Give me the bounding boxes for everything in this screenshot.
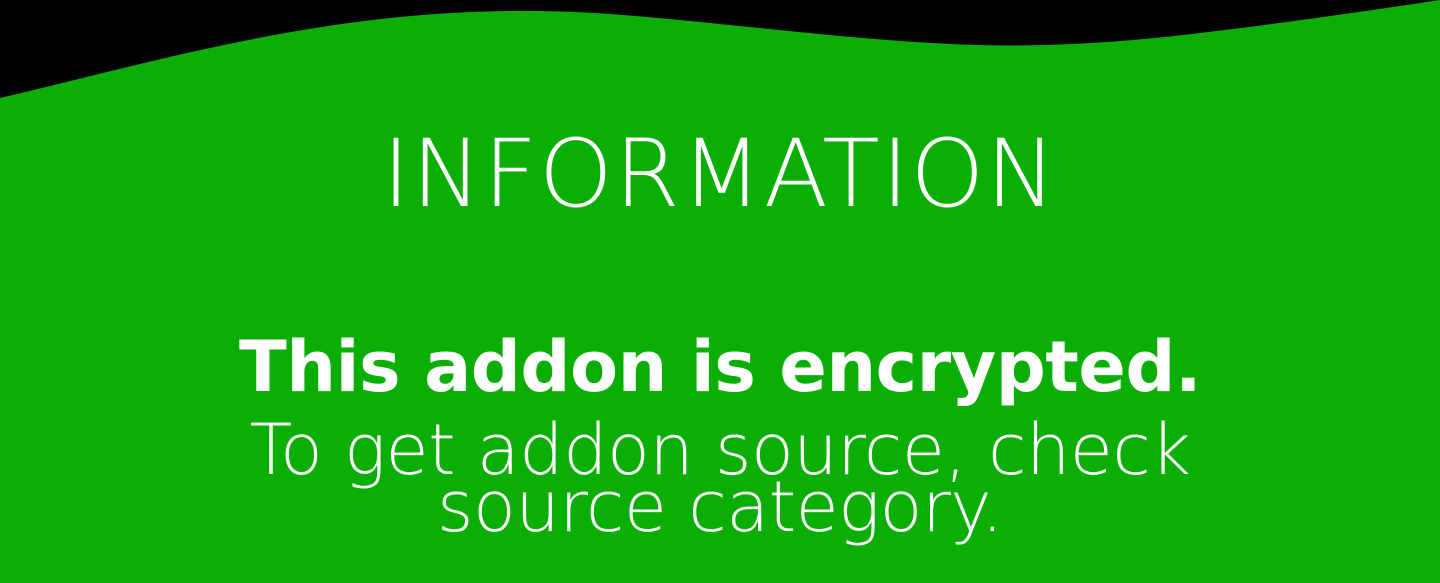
information-banner: INFORMATION This addon is encrypted. To … — [0, 0, 1440, 583]
green-wave-panel — [0, 0, 1440, 583]
wave-shape — [0, 0, 1440, 583]
